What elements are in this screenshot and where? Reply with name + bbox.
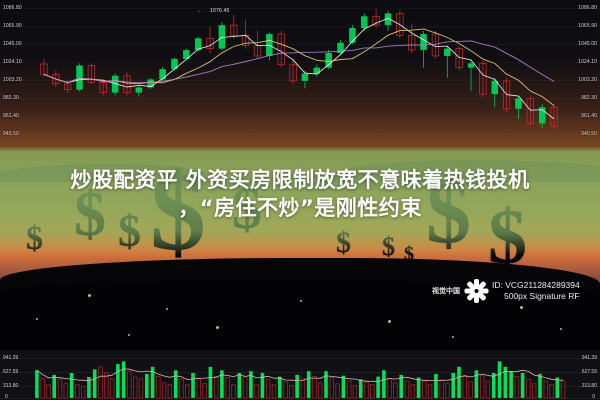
light-speck [36,318,38,320]
light-speck [560,328,562,330]
price-chart-panel: 1086.80 1065.90 1045.00 1024.10 1003.20 … [0,0,600,150]
light-speck [300,300,302,302]
volume-bar-series [0,350,600,400]
sunburst-icon [463,278,489,304]
volume-chart-panel: 941.39 627.59 313.80 0 941.39 627.59 313… [0,350,600,400]
watermark-id: ID: VCG211284289394 [492,280,580,291]
price-annotation-arrow: ← [197,8,202,14]
watermark: 视觉中国 ID: VCG211284289394 500px Signature… [432,278,580,304]
light-speck [452,336,454,338]
dollar-sign-silhouette: $ [336,228,351,258]
page-title: 炒股配资平 外资买房限制放宽不意味着热钱投机 ，“房住不炒”是刚性约束 [0,166,600,222]
dollar-sign-silhouette: $ [26,222,43,256]
light-speck [128,334,130,336]
light-speck [166,308,168,310]
watermark-brand: 视觉中国 [432,286,460,296]
light-speck [88,294,91,297]
dollar-sign-silhouette: $ [382,234,395,260]
dollar-sign-silhouette: $ [404,244,414,264]
candlestick-series [0,0,600,150]
price-annotation-value: 1076.45 [210,8,229,14]
light-speck [520,306,523,309]
light-speck [388,320,391,323]
watermark-license: 500px Signature RF [492,291,580,302]
news-cover-image: 1086.80 1065.90 1045.00 1024.10 1003.20 … [0,0,600,400]
light-speck [216,326,219,329]
